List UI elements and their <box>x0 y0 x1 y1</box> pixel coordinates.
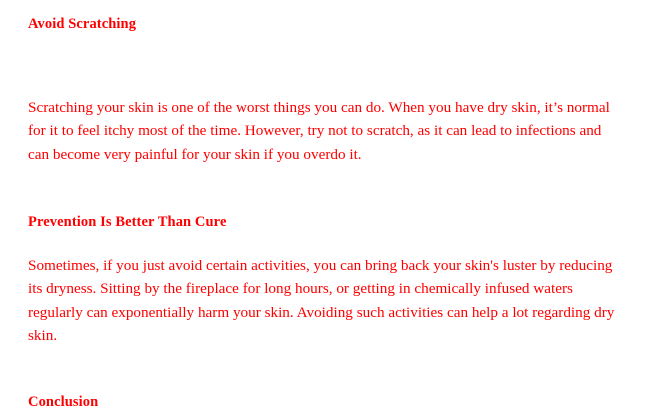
section-heading-prevention-is-better-than-cure: Prevention Is Better Than Cure <box>28 214 620 231</box>
section-paragraph-prevention-is-better-than-cure: Sometimes, if you just avoid certain act… <box>28 254 620 347</box>
section-heading-conclusion: Conclusion <box>28 394 620 411</box>
document-body: Avoid Scratching Scratching your skin is… <box>0 0 656 409</box>
section-paragraph-avoid-scratching: Scratching your skin is one of the worst… <box>28 96 620 166</box>
section-heading-avoid-scratching: Avoid Scratching <box>28 16 620 33</box>
